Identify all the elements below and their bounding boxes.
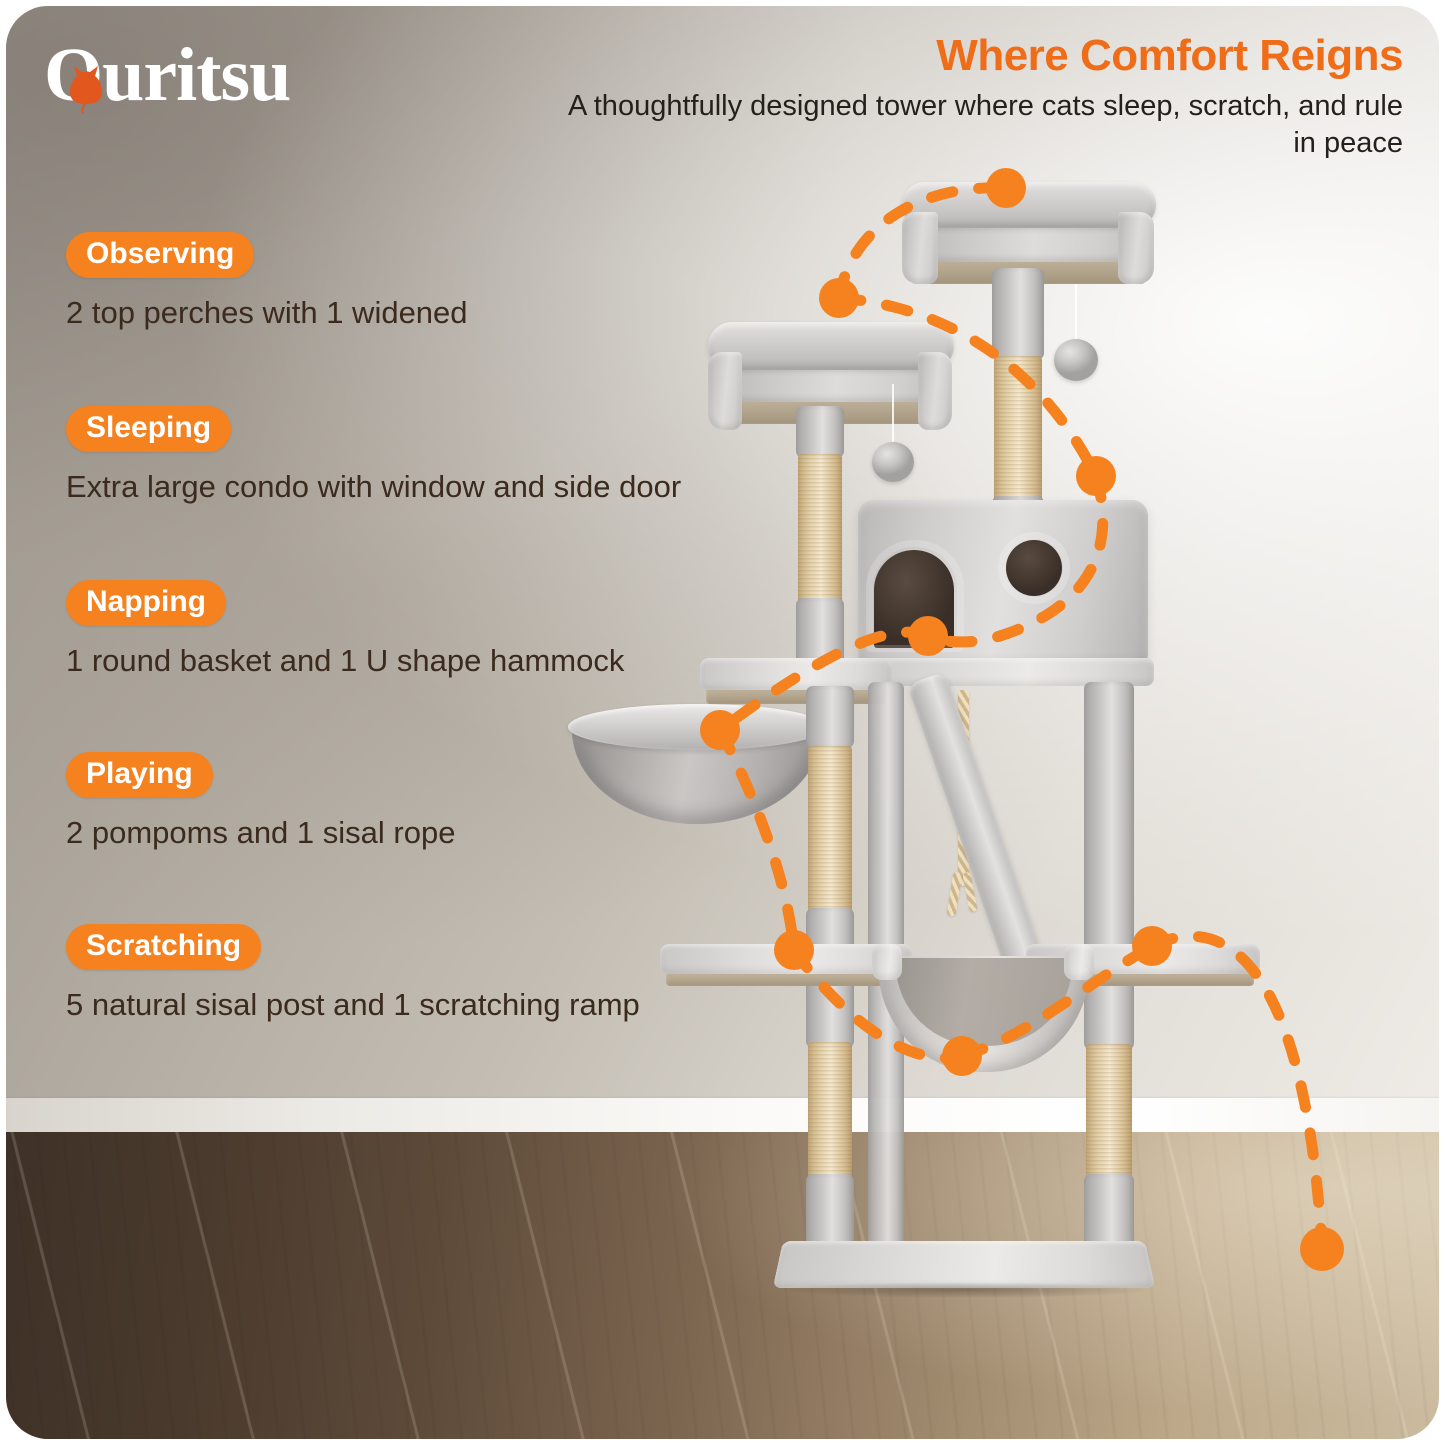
callout-path-segment-tail [1152,936,1322,1246]
callout-marker-4 [908,616,948,656]
callout-path-overlay [6,6,1439,1439]
callout-marker-7 [942,1036,982,1076]
page-headline: Where Comfort Reigns [543,32,1403,80]
callout-path-segment-condo [928,476,1103,642]
feature-description: 2 pompoms and 1 sisal rope [66,814,706,852]
callout-path-segment-basket [720,632,928,730]
feature-item-sleeping: Sleeping Extra large condo with window a… [66,406,726,506]
feature-badge: Playing [66,752,213,798]
feature-item-playing: Playing 2 pompoms and 1 sisal rope [66,752,726,852]
callout-path-segment-top [839,188,1006,298]
feature-badge: Observing [66,232,254,278]
callout-marker-5 [700,710,740,750]
product-photo-scene [6,6,1439,1439]
feature-description: 2 top perches with 1 widened [66,294,706,332]
feature-badge: Scratching [66,924,261,970]
callout-path-segment-hammock [794,950,962,1058]
cat-silhouette-icon [64,62,108,114]
callout-path-segment-hammock-right [962,946,1152,1056]
feature-badge: Sleeping [66,406,231,452]
callout-marker-end [1300,1227,1344,1271]
page-subheadline: A thoughtfully designed tower where cats… [543,88,1403,162]
brand-logo: Ouritsu [44,36,290,114]
feature-item-observing: Observing 2 top perches with 1 widened [66,232,726,332]
feature-description: 5 natural sisal post and 1 scratching ra… [66,986,706,1024]
callout-path-segment-descend [839,298,1096,476]
callout-marker-8 [1132,926,1172,966]
callout-marker-3 [1076,456,1116,496]
infographic-canvas: Ouritsu Where Comfort Reigns A thoughtfu… [0,0,1445,1445]
callout-path-segment-left-down [720,730,794,950]
callout-marker-2 [819,278,859,318]
callout-marker-6 [774,930,814,970]
feature-description: 1 round basket and 1 U shape hammock [66,642,706,680]
feature-item-napping: Napping 1 round basket and 1 U shape ham… [66,580,726,680]
feature-item-scratching: Scratching 5 natural sisal post and 1 sc… [66,924,726,1024]
feature-description: Extra large condo with window and side d… [66,468,706,506]
callout-marker-1 [986,168,1026,208]
feature-badge: Napping [66,580,226,626]
